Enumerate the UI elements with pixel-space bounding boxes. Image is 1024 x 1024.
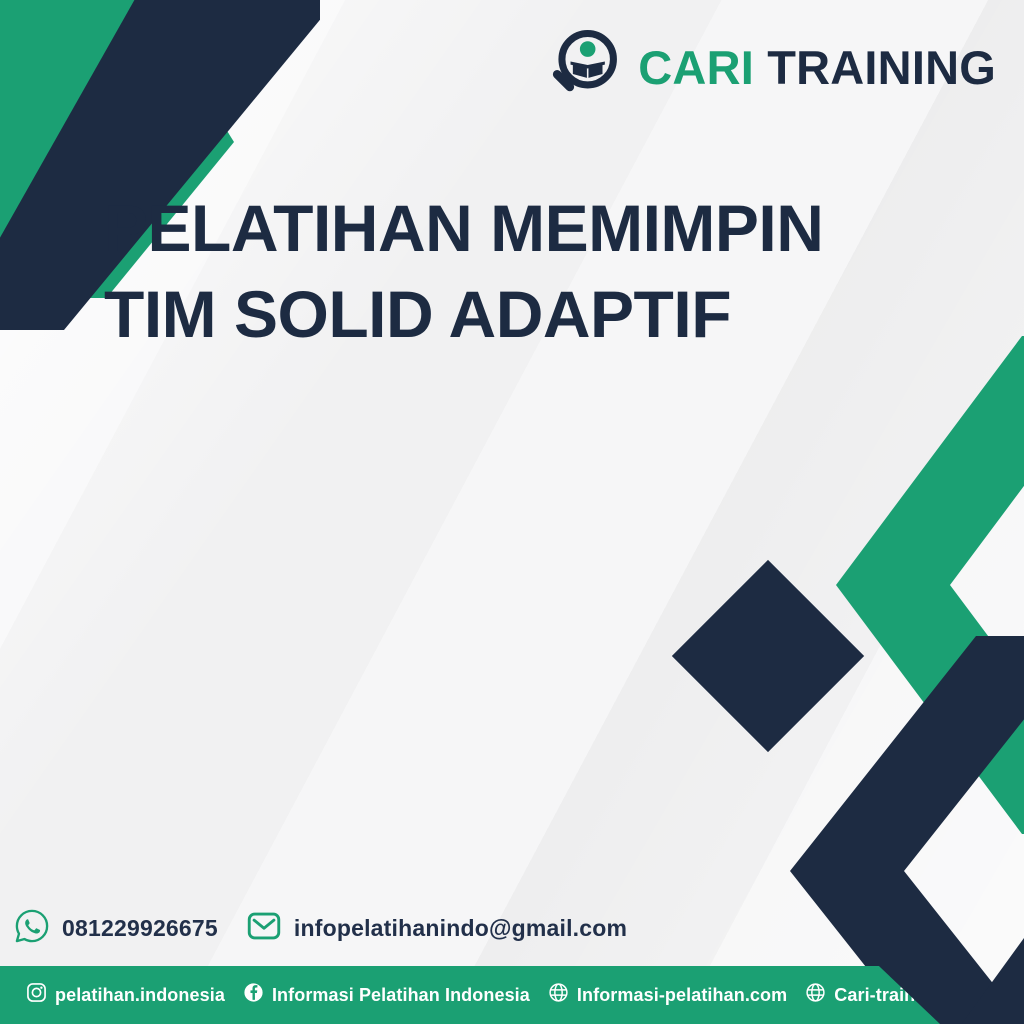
contact-email[interactable]: infopelatihanindo@gmail.com: [246, 908, 627, 949]
contact-row: 081229926675 infopelatihanindo@gmail.com: [14, 906, 627, 950]
poster-canvas: CARI TRAINING PELATIHAN MEMIMPIN TIM SOL…: [0, 0, 1024, 1024]
globe-icon: [548, 982, 569, 1008]
facebook-icon: [243, 982, 264, 1008]
brand-logo[interactable]: CARI TRAINING: [544, 28, 996, 106]
footer-social-bar: pelatihan.indonesia Informasi Pelatihan …: [0, 966, 940, 1024]
email-address: infopelatihanindo@gmail.com: [294, 915, 627, 942]
headline-line-1: PELATIHAN MEMIMPIN: [104, 186, 864, 272]
instagram-icon: [26, 982, 47, 1008]
headline-line-2: TIM SOLID ADAPTIF: [104, 272, 864, 358]
email-icon: [246, 908, 282, 949]
whatsapp-icon: [14, 908, 50, 949]
instagram-handle: pelatihan.indonesia: [55, 985, 225, 1006]
logo-wordmark: CARI TRAINING: [638, 44, 996, 91]
poster-headline: PELATIHAN MEMIMPIN TIM SOLID ADAPTIF: [104, 186, 864, 358]
globe-icon: [805, 982, 826, 1008]
social-instagram[interactable]: pelatihan.indonesia: [26, 982, 225, 1008]
whatsapp-number: 081229926675: [62, 915, 218, 942]
logo-word-training: TRAINING: [767, 41, 996, 94]
magnifier-book-icon: [544, 28, 622, 106]
facebook-page: Informasi Pelatihan Indonesia: [272, 985, 530, 1006]
social-facebook[interactable]: Informasi Pelatihan Indonesia: [243, 982, 530, 1008]
website-informasi: Informasi-pelatihan.com: [577, 985, 787, 1006]
logo-word-cari: CARI: [638, 41, 754, 94]
contact-whatsapp[interactable]: 081229926675: [14, 908, 218, 949]
social-website-informasi[interactable]: Informasi-pelatihan.com: [548, 982, 787, 1008]
